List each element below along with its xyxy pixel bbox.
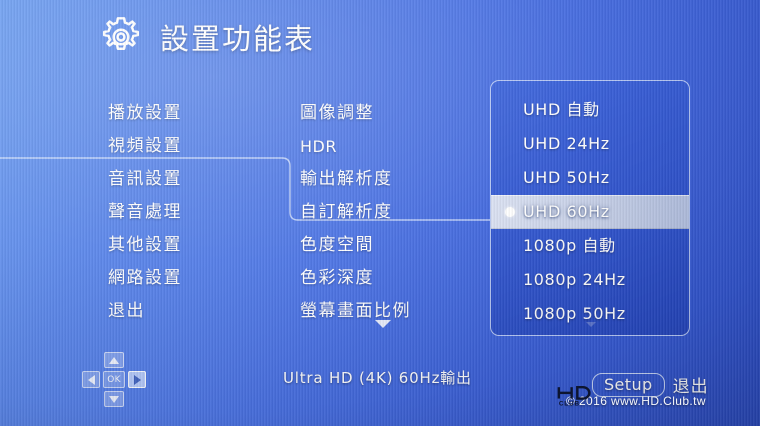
- option-label: UHD 自動: [523, 93, 600, 127]
- option-row[interactable]: 1080p 50Hz: [491, 297, 689, 331]
- submenu-item-custom-resolution[interactable]: 自訂解析度: [300, 196, 490, 229]
- option-label: 1080p 50Hz: [523, 297, 626, 331]
- option-row[interactable]: 1080p 24Hz: [491, 263, 689, 297]
- sidebar-item-sound[interactable]: 聲音處理: [108, 196, 278, 229]
- ok-label: OK: [107, 375, 121, 385]
- svg-text:CLUB: CLUB: [559, 401, 580, 408]
- radio-indicator: [505, 275, 515, 285]
- option-label: 1080p 24Hz: [523, 263, 626, 297]
- hd-club-logo-icon: CLUB: [556, 380, 600, 410]
- submenu-item-output-resolution[interactable]: 輸出解析度: [300, 163, 490, 196]
- sidebar-item-playback[interactable]: 播放設置: [108, 97, 278, 130]
- option-label: 1080p 自動: [523, 229, 616, 263]
- submenu-item-color-space[interactable]: 色度空間: [300, 229, 490, 262]
- arrow-right-icon[interactable]: [128, 371, 146, 388]
- sidebar-item-network[interactable]: 網路設置: [108, 262, 278, 295]
- option-label: UHD 60Hz: [523, 195, 610, 229]
- sidebar-item-audio[interactable]: 音訊設置: [108, 163, 278, 196]
- submenu-chevron-down-icon[interactable]: [375, 320, 391, 328]
- option-label: UHD 50Hz: [523, 161, 610, 195]
- radio-indicator: [505, 309, 515, 319]
- option-row-selected[interactable]: UHD 60Hz: [490, 195, 690, 229]
- page-header: 設置功能表: [98, 14, 315, 60]
- radio-indicator: [505, 139, 515, 149]
- option-row[interactable]: UHD 自動: [491, 93, 689, 127]
- page-title: 設置功能表: [160, 16, 315, 58]
- radio-indicator: [505, 241, 515, 251]
- submenu-item-aspect-ratio[interactable]: 螢幕畫面比例: [300, 295, 490, 328]
- option-row[interactable]: UHD 24Hz: [491, 127, 689, 161]
- sidebar-item-other[interactable]: 其他設置: [108, 229, 278, 262]
- radio-indicator: [505, 173, 515, 183]
- tv-settings-screen: 設置功能表 播放設置 視頻設置 音訊設置 聲音處理 其他設置 網路設置 退出 圖…: [0, 0, 760, 426]
- arrow-left-icon[interactable]: [82, 371, 100, 388]
- arrow-up-icon[interactable]: [104, 352, 124, 368]
- radio-indicator-selected: [505, 207, 515, 217]
- options-panel: UHD 自動 UHD 24Hz UHD 50Hz UHD 60Hz 1080p …: [490, 80, 690, 336]
- arrow-down-icon[interactable]: [104, 391, 124, 407]
- submenu-list: 圖像調整 HDR 輸出解析度 自訂解析度 色度空間 色彩深度 螢幕畫面比例: [300, 97, 490, 328]
- submenu-item-hdr[interactable]: HDR: [300, 130, 490, 163]
- submenu-item-picture-adjust[interactable]: 圖像調整: [300, 97, 490, 130]
- sidebar-item-exit[interactable]: 退出: [108, 295, 278, 328]
- watermark: CLUB © 2016 www.HD.Club.tw: [556, 380, 706, 410]
- ok-button[interactable]: OK: [103, 371, 125, 388]
- option-row[interactable]: 1080p 自動: [491, 229, 689, 263]
- sidebar-item-video[interactable]: 視頻設置: [108, 130, 278, 163]
- option-row[interactable]: UHD 50Hz: [491, 161, 689, 195]
- radio-indicator: [505, 105, 515, 115]
- option-label: UHD 24Hz: [523, 127, 610, 161]
- sidebar-menu: 播放設置 視頻設置 音訊設置 聲音處理 其他設置 網路設置 退出: [108, 97, 278, 328]
- dpad-control[interactable]: OK: [80, 352, 160, 406]
- gear-icon: [98, 14, 144, 60]
- status-text: Ultra HD (4K) 60Hz輸出: [283, 367, 472, 388]
- submenu-item-color-depth[interactable]: 色彩深度: [300, 262, 490, 295]
